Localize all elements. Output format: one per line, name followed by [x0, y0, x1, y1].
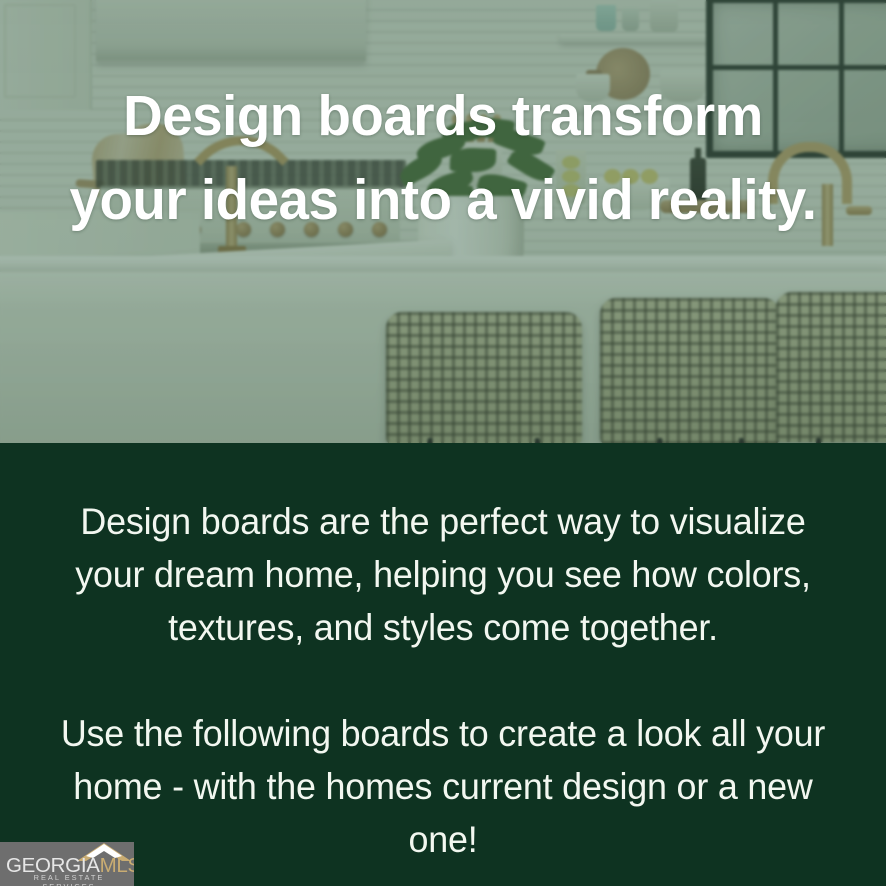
hero-section: Design boards transform your ideas into …: [0, 0, 886, 443]
page-headline: Design boards transform your ideas into …: [18, 74, 869, 242]
body-paragraph-1: Design boards are the perfect way to vis…: [50, 495, 836, 654]
message-panel: Design boards are the perfect way to vis…: [0, 443, 886, 886]
logo-tagline: REAL ESTATE SERVICES: [8, 873, 130, 886]
body-paragraph-2: Use the following boards to create a loo…: [50, 707, 836, 866]
georgia-mls-logo: GEORGIA MLS REAL ESTATE SERVICES: [0, 842, 134, 886]
logo-wordmark: GEORGIA MLS: [6, 854, 134, 875]
poster: Design boards transform your ideas into …: [0, 0, 886, 886]
